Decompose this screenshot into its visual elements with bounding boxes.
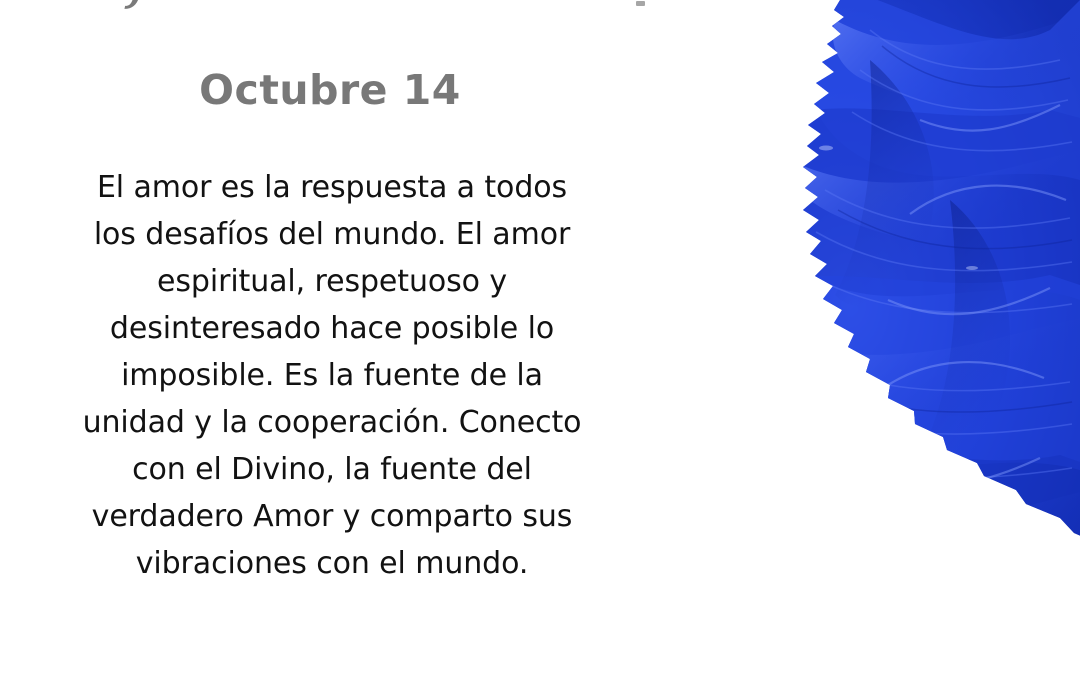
date-heading: Octubre 14	[0, 66, 660, 114]
carnation-photo	[620, 0, 1080, 675]
quote-text: El amor es la respuesta a todos los desa…	[72, 164, 592, 587]
poster-canvas: Reflexión del Día Octubre 14 El amor es …	[0, 0, 1080, 675]
script-title: Reflexión del Día	[0, 0, 664, 11]
carnation-illustration	[620, 0, 1080, 675]
text-column: Reflexión del Día Octubre 14 El amor es …	[0, 0, 660, 675]
